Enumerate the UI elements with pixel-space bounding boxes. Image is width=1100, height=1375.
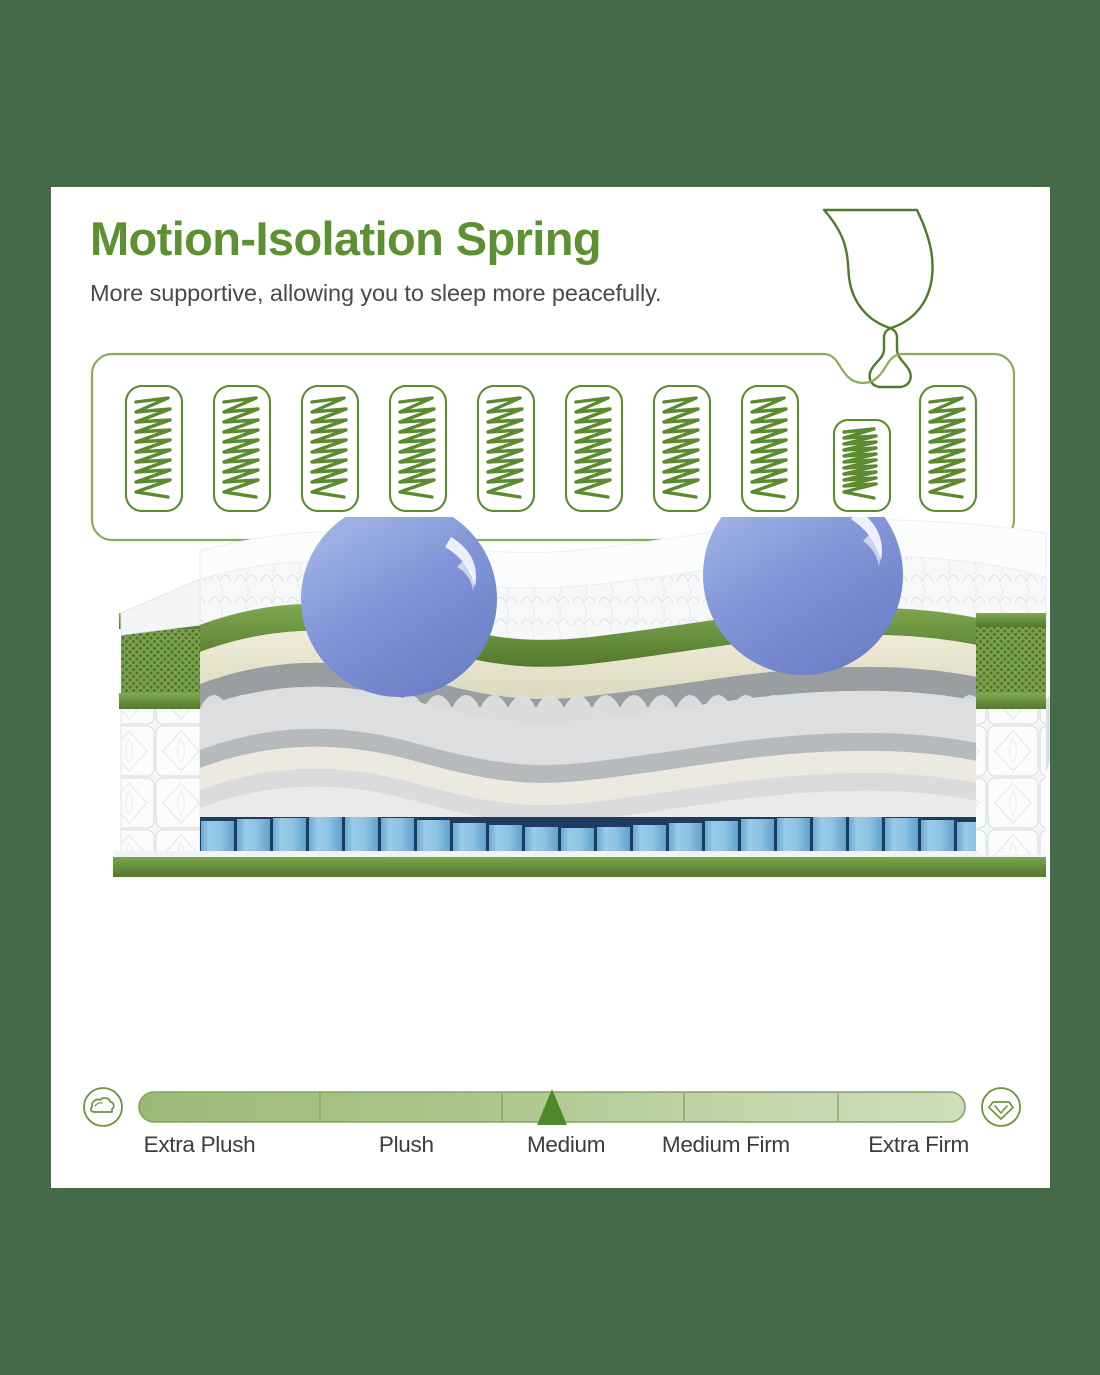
pocket-coil-layer: [200, 817, 1046, 1029]
firmness-bar[interactable]: [138, 1091, 966, 1123]
spring-pocket: [478, 386, 534, 511]
firmness-label-medium-firm: Medium Firm: [662, 1132, 790, 1158]
spring-pocket: [302, 386, 358, 511]
spring-pocket: [214, 386, 270, 511]
quilted-side-panel-right: [976, 707, 1046, 855]
firmness-marker[interactable]: [535, 1087, 569, 1127]
product-info-card: Motion-Isolation Spring More supportive,…: [51, 187, 1050, 1188]
spring-pocket: [390, 386, 446, 511]
spring-pocket: [126, 386, 182, 511]
header-block: Motion-Isolation Spring More supportive,…: [90, 214, 810, 307]
spring-pocket: [654, 386, 710, 511]
quilted-side-panel-left: [121, 707, 200, 855]
green-base-band: [113, 851, 1046, 877]
green-mesh-side-band-right: [976, 613, 1046, 709]
spring-pocket-compressed: [834, 420, 890, 511]
spring-list: [126, 386, 976, 511]
spring-pocket: [742, 386, 798, 511]
cloud-icon: [82, 1086, 124, 1128]
diamond-icon: [980, 1086, 1022, 1128]
firmness-bar-row: [82, 1082, 1022, 1132]
firmness-label-extra-firm: Extra Firm: [868, 1132, 969, 1158]
firmness-label-plush: Plush: [379, 1132, 434, 1158]
firmness-label-medium: Medium: [527, 1132, 605, 1158]
spring-pocket: [566, 386, 622, 511]
firmness-scale: Extra Plush Plush Medium Medium Firm Ext…: [51, 1082, 1050, 1177]
spring-row-diagram: [88, 350, 1018, 545]
firmness-label-row: Extra Plush Plush Medium Medium Firm Ext…: [82, 1132, 1022, 1172]
mattress-cutaway-illustration: [51, 517, 1050, 1057]
page-title: Motion-Isolation Spring: [90, 214, 810, 263]
page-subtitle: More supportive, allowing you to sleep m…: [90, 280, 810, 307]
spring-pocket: [920, 386, 976, 511]
firmness-label-extra-plush: Extra Plush: [144, 1132, 256, 1158]
